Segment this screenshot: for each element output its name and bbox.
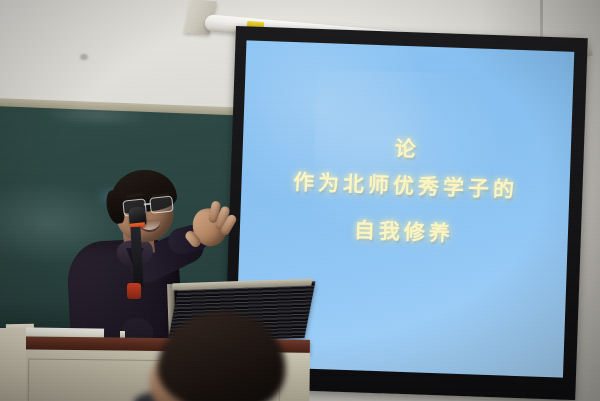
foreground-student [150, 312, 300, 401]
slide-text-block: 论 作为北师优秀学子的 自我修养 [239, 128, 571, 255]
glasses-lens-right [149, 196, 174, 214]
microphone-grip [127, 283, 141, 299]
chalk-smudge-1 [42, 102, 153, 128]
slide-line-1: 论 [242, 128, 571, 169]
lecture-hall-photo: 论 作为北师优秀学子的 自我修养 [0, 0, 600, 401]
podium-side [0, 328, 26, 401]
slide-line-3: 自我修养 [239, 208, 568, 255]
student-hair [155, 308, 290, 401]
slide-line-2: 作为北师优秀学子的 [241, 162, 570, 209]
wall-smudge [80, 54, 88, 60]
